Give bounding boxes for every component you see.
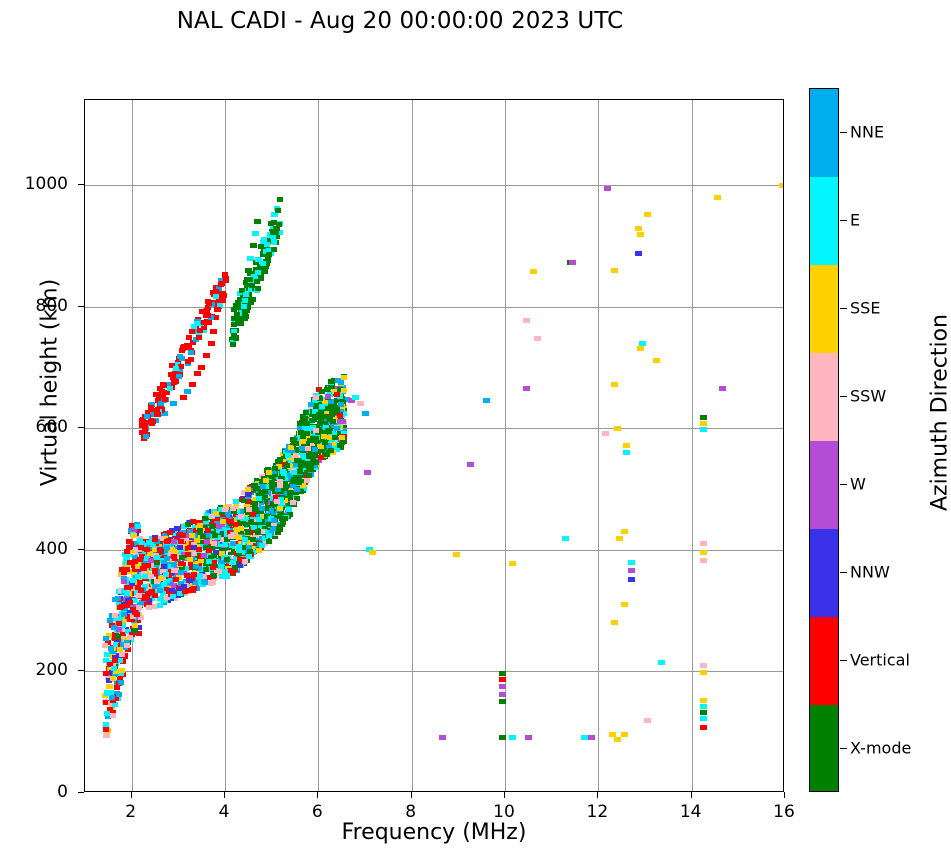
echo-point xyxy=(714,195,721,200)
echo-point xyxy=(509,735,516,740)
echo-point xyxy=(189,382,196,387)
x-axis-tick xyxy=(784,792,785,798)
echo-point xyxy=(242,310,248,315)
echo-point xyxy=(244,522,250,527)
y-axis-tick xyxy=(78,549,84,550)
y-axis-tick xyxy=(78,306,84,307)
echo-point xyxy=(291,470,297,475)
echo-point xyxy=(439,735,446,740)
grid-line-vertical xyxy=(692,100,693,791)
echo-point xyxy=(110,713,116,718)
x-axis-tick-label: 14 xyxy=(661,802,721,822)
x-axis-label: Frequency (MHz) xyxy=(84,820,784,845)
echo-point xyxy=(142,425,148,430)
echo-point xyxy=(161,383,167,388)
echo-point xyxy=(303,463,309,468)
echo-point xyxy=(218,294,224,299)
echo-point xyxy=(325,428,331,433)
echo-point xyxy=(312,453,318,458)
echo-point xyxy=(250,537,256,542)
echo-point xyxy=(637,346,644,351)
echo-point xyxy=(230,541,236,546)
echo-point xyxy=(499,671,506,676)
echo-point xyxy=(322,440,328,445)
colorbar-title: Azimuth Direction xyxy=(928,263,951,563)
echo-point xyxy=(305,446,311,451)
echo-point xyxy=(103,636,109,641)
y-axis-tick xyxy=(78,670,84,671)
echo-point xyxy=(206,548,212,553)
echo-point xyxy=(328,448,334,453)
echo-point xyxy=(241,304,247,309)
echo-point xyxy=(320,414,326,419)
echo-point xyxy=(330,419,336,424)
echo-point xyxy=(135,524,141,529)
echo-point xyxy=(124,549,130,554)
echo-point xyxy=(275,487,281,492)
echo-point xyxy=(107,618,113,623)
echo-point xyxy=(112,658,118,663)
echo-point xyxy=(203,313,209,318)
echo-point xyxy=(196,547,202,552)
echo-point xyxy=(658,660,665,665)
echo-point xyxy=(211,553,217,558)
echo-point xyxy=(206,301,212,306)
echo-point xyxy=(304,431,310,436)
echo-point xyxy=(245,530,251,535)
echo-point xyxy=(621,732,628,737)
echo-point xyxy=(364,470,371,475)
echo-point xyxy=(616,536,623,541)
colorbar-band xyxy=(810,89,838,177)
y-axis-tick xyxy=(78,427,84,428)
echo-point xyxy=(282,516,288,521)
echo-point xyxy=(230,560,236,565)
echo-point xyxy=(242,537,248,542)
echo-point xyxy=(103,727,109,732)
echo-point xyxy=(167,530,173,535)
x-axis-tick xyxy=(504,792,505,798)
echo-point xyxy=(277,197,283,202)
echo-point xyxy=(249,283,255,288)
echo-point xyxy=(198,365,205,370)
echo-point xyxy=(103,722,109,727)
echo-point xyxy=(127,635,133,640)
echo-point xyxy=(623,450,630,455)
echo-point xyxy=(369,550,376,555)
echo-point xyxy=(233,336,239,341)
echo-point xyxy=(611,268,618,273)
echo-point xyxy=(108,646,114,651)
grid-line-vertical xyxy=(412,100,413,791)
echo-point xyxy=(202,516,208,521)
echo-point xyxy=(499,735,506,740)
echo-point xyxy=(179,348,185,353)
echo-point xyxy=(700,663,707,668)
echo-point xyxy=(213,289,219,294)
echo-point xyxy=(191,586,197,591)
echo-point xyxy=(186,345,192,350)
echo-point xyxy=(467,462,474,467)
echo-point xyxy=(779,183,784,188)
echo-point xyxy=(509,561,516,566)
echo-point xyxy=(700,698,707,703)
echo-point xyxy=(197,328,203,333)
echo-point xyxy=(157,596,163,601)
echo-point xyxy=(230,506,236,511)
echo-point xyxy=(116,621,122,626)
echo-point xyxy=(157,547,163,552)
echo-point xyxy=(102,643,108,648)
echo-point xyxy=(197,573,203,578)
echo-point xyxy=(268,221,274,226)
echo-point xyxy=(218,282,224,287)
x-axis-tick-label: 2 xyxy=(101,802,161,822)
echo-point xyxy=(246,507,252,512)
echo-point xyxy=(313,428,319,433)
echo-point xyxy=(275,208,281,213)
grid-line-vertical xyxy=(598,100,599,791)
echo-point xyxy=(212,533,218,538)
echo-point xyxy=(341,388,347,393)
echo-point xyxy=(211,573,217,578)
echo-point xyxy=(124,585,130,590)
echo-point xyxy=(256,496,262,501)
colorbar-label-e: E xyxy=(850,211,860,230)
echo-point xyxy=(111,666,117,671)
echo-point xyxy=(121,612,127,617)
x-axis-tick-label: 8 xyxy=(381,802,441,822)
colorbar-band xyxy=(810,705,838,792)
echo-point xyxy=(215,307,221,312)
echo-point xyxy=(174,526,180,531)
echo-point xyxy=(246,554,252,559)
echo-point xyxy=(271,240,277,245)
echo-point xyxy=(178,570,184,575)
echo-point xyxy=(252,231,259,236)
y-axis-tick xyxy=(78,184,84,185)
echo-point xyxy=(173,379,179,384)
echo-point xyxy=(499,699,506,704)
echo-point xyxy=(194,321,200,326)
echo-point xyxy=(132,628,138,633)
echo-point xyxy=(201,320,207,325)
echo-point xyxy=(131,533,137,538)
echo-point xyxy=(276,222,282,227)
echo-point xyxy=(266,533,272,538)
echo-point xyxy=(252,483,258,488)
echo-point xyxy=(124,643,130,648)
colorbar-band xyxy=(810,617,838,705)
echo-point xyxy=(317,421,323,426)
echo-point xyxy=(203,567,209,572)
echo-point xyxy=(162,397,168,402)
echo-point xyxy=(309,418,315,423)
echo-point xyxy=(644,718,651,723)
echo-point xyxy=(700,427,707,432)
colorbar-band xyxy=(810,265,838,353)
colorbar-tick xyxy=(840,220,847,221)
echo-point xyxy=(144,547,150,552)
colorbar-tick xyxy=(840,748,847,749)
echo-point xyxy=(338,402,344,407)
echo-point xyxy=(161,564,167,569)
echo-point xyxy=(644,212,651,217)
echo-point xyxy=(141,566,147,571)
x-axis-tick xyxy=(411,792,412,798)
azimuth-colorbar xyxy=(809,88,839,792)
echo-point xyxy=(228,519,234,524)
echo-point xyxy=(483,398,490,403)
y-axis-tick-label: 400 xyxy=(8,539,68,559)
echo-point xyxy=(208,341,215,346)
echo-point xyxy=(313,395,319,400)
echo-point xyxy=(700,550,707,555)
echo-point xyxy=(104,711,110,716)
echo-point xyxy=(127,560,133,565)
echo-point xyxy=(144,414,150,419)
page-title: NAL CADI - Aug 20 00:00:00 2023 UTC xyxy=(0,8,800,34)
echo-point xyxy=(103,733,110,738)
echo-point xyxy=(177,545,183,550)
echo-point xyxy=(235,317,241,322)
echo-point xyxy=(337,443,343,448)
echo-point xyxy=(621,602,628,607)
echo-point xyxy=(523,386,530,391)
echo-point xyxy=(274,499,280,504)
echo-point xyxy=(194,371,201,376)
echo-point xyxy=(247,277,253,282)
echo-point xyxy=(184,389,191,394)
echo-point xyxy=(277,457,283,462)
echo-point xyxy=(167,386,173,391)
echo-point xyxy=(700,670,707,675)
echo-point xyxy=(324,406,330,411)
echo-point xyxy=(127,600,133,605)
echo-point xyxy=(136,593,142,598)
echo-point xyxy=(263,478,269,483)
echo-point xyxy=(173,366,179,371)
echo-point xyxy=(319,404,325,409)
echo-point xyxy=(453,552,460,557)
echo-point xyxy=(114,685,120,690)
echo-point xyxy=(328,399,334,404)
echo-point xyxy=(185,522,191,527)
echo-point xyxy=(523,318,530,323)
echo-point xyxy=(190,519,196,524)
echo-point xyxy=(188,357,194,362)
echo-point xyxy=(231,307,237,312)
echo-point xyxy=(143,434,149,439)
echo-point xyxy=(285,453,291,458)
echo-point xyxy=(700,704,707,709)
colorbar-tick xyxy=(840,660,847,661)
grid-line-horizontal xyxy=(85,307,783,308)
colorbar-tick xyxy=(840,132,847,133)
echo-point xyxy=(313,436,319,441)
echo-point xyxy=(262,489,268,494)
echo-point xyxy=(106,684,113,689)
echo-point xyxy=(209,514,215,519)
echo-point xyxy=(337,413,343,418)
echo-point xyxy=(340,419,346,424)
echo-point xyxy=(154,412,160,417)
echo-point xyxy=(224,557,230,562)
echo-point xyxy=(242,298,248,303)
echo-point xyxy=(222,507,228,512)
echo-point xyxy=(277,527,283,532)
colorbar-tick xyxy=(840,308,847,309)
echo-point xyxy=(220,519,226,524)
echo-point xyxy=(700,725,707,730)
echo-point xyxy=(332,435,338,440)
y-axis-tick xyxy=(78,792,84,793)
echo-point xyxy=(164,556,170,561)
echo-point xyxy=(179,356,185,361)
echo-point xyxy=(119,567,125,572)
echo-point xyxy=(104,691,110,696)
echo-point xyxy=(362,411,369,416)
echo-point xyxy=(121,579,127,584)
grid-line-horizontal xyxy=(85,428,783,429)
x-axis-tick-label: 12 xyxy=(567,802,627,822)
x-axis-tick xyxy=(131,792,132,798)
echo-point xyxy=(211,541,217,546)
echo-point xyxy=(255,286,261,291)
echo-point xyxy=(148,558,154,563)
echo-point xyxy=(264,242,270,247)
echo-point xyxy=(238,514,244,519)
echo-point xyxy=(290,500,296,505)
echo-point xyxy=(283,484,289,489)
echo-point xyxy=(137,557,143,562)
colorbar-tick xyxy=(840,396,847,397)
echo-point xyxy=(304,478,310,483)
echo-point xyxy=(228,534,234,539)
echo-point xyxy=(157,603,163,608)
echo-point xyxy=(188,350,194,355)
echo-point xyxy=(259,543,265,548)
echo-point xyxy=(201,553,207,558)
echo-point xyxy=(255,270,261,275)
echo-point xyxy=(230,342,236,347)
echo-point xyxy=(171,539,177,544)
echo-point xyxy=(234,527,240,532)
y-axis-tick-label: 0 xyxy=(8,782,68,802)
echo-point xyxy=(621,529,628,534)
echo-point xyxy=(258,276,264,281)
echo-point xyxy=(256,548,262,553)
echo-point xyxy=(158,576,164,581)
echo-point xyxy=(245,487,251,492)
echo-point xyxy=(186,335,192,340)
echo-point xyxy=(250,243,257,248)
echo-point xyxy=(119,652,125,657)
echo-point xyxy=(187,557,193,562)
colorbar-label-sse: SSE xyxy=(850,299,880,318)
echo-point xyxy=(293,441,299,446)
echo-point xyxy=(144,596,150,601)
echo-point xyxy=(700,415,707,420)
echo-point xyxy=(297,469,303,474)
echo-point xyxy=(111,625,117,630)
echo-point xyxy=(146,605,152,610)
echo-point xyxy=(197,523,203,528)
echo-point xyxy=(635,251,642,256)
echo-point xyxy=(281,471,287,476)
echo-point xyxy=(242,559,248,564)
echo-point xyxy=(206,559,212,564)
echo-point xyxy=(203,353,210,358)
echo-point xyxy=(164,539,170,544)
colorbar-tick xyxy=(840,484,847,485)
x-axis-tick xyxy=(691,792,692,798)
echo-point xyxy=(277,506,283,511)
echo-point xyxy=(308,402,314,407)
echo-point xyxy=(142,574,148,579)
echo-point xyxy=(260,261,266,266)
echo-point xyxy=(103,671,109,676)
echo-point xyxy=(272,466,278,471)
echo-point xyxy=(178,364,184,369)
echo-point xyxy=(303,410,309,415)
echo-point xyxy=(260,484,266,489)
echo-point xyxy=(243,292,249,297)
echo-point xyxy=(294,487,300,492)
grid-line-vertical xyxy=(225,100,226,791)
echo-point xyxy=(530,269,537,274)
echo-point xyxy=(182,589,188,594)
colorbar-band xyxy=(810,177,838,265)
y-axis-tick-label: 1000 xyxy=(8,174,68,194)
echo-point xyxy=(109,695,115,700)
echo-point xyxy=(284,463,290,468)
echo-point xyxy=(604,186,611,191)
echo-point xyxy=(152,593,158,598)
echo-point xyxy=(318,455,324,460)
echo-point xyxy=(154,555,160,560)
echo-point xyxy=(312,447,318,452)
echo-point xyxy=(562,536,569,541)
echo-point xyxy=(170,594,176,599)
echo-point xyxy=(187,578,193,583)
echo-point xyxy=(525,735,532,740)
echo-point xyxy=(318,444,324,449)
echo-point xyxy=(117,647,123,652)
echo-point xyxy=(132,623,138,628)
echo-point xyxy=(164,545,170,550)
x-axis-tick-label: 10 xyxy=(474,802,534,822)
echo-point xyxy=(352,395,359,400)
colorbar-band xyxy=(810,353,838,441)
echo-point xyxy=(271,247,277,252)
echo-point xyxy=(290,479,296,484)
echo-point xyxy=(119,668,125,673)
echo-point xyxy=(569,260,576,265)
echo-point xyxy=(325,394,331,399)
echo-point xyxy=(266,539,272,544)
x-axis-tick xyxy=(597,792,598,798)
colorbar-label-w: W xyxy=(850,475,866,494)
echo-point xyxy=(700,421,707,426)
echo-point xyxy=(218,564,224,569)
echo-point xyxy=(180,395,187,400)
echo-point xyxy=(189,329,195,334)
echo-point xyxy=(178,561,184,566)
x-axis-tick-label: 6 xyxy=(287,802,347,822)
colorbar-band xyxy=(810,441,838,529)
echo-point xyxy=(130,578,136,583)
